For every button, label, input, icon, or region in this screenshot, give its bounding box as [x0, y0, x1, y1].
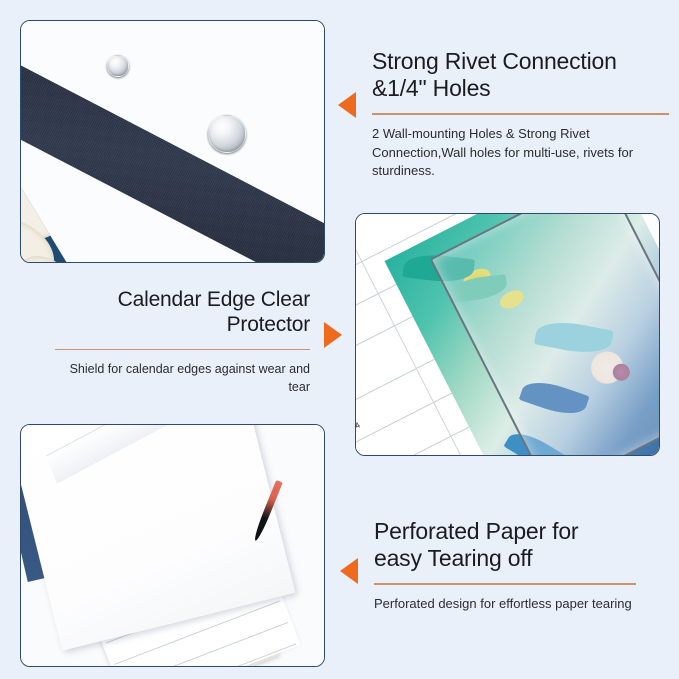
- pointer-arrow-left-icon: [340, 558, 358, 584]
- page-curl: [46, 424, 238, 484]
- heading-line-1: Strong Rivet Connection: [372, 48, 617, 74]
- feature-heading-rivet: Strong Rivet Connection &1/4" Holes: [372, 48, 669, 102]
- heading-line-1: Perforated Paper for: [374, 518, 578, 544]
- heading-line-2: easy Tearing off: [374, 545, 532, 571]
- photo-panel-rivets: [20, 20, 325, 263]
- heading-line-2: &1/4" Holes: [372, 75, 490, 101]
- pointer-arrow-left-icon: [338, 92, 356, 118]
- feature-block-perforated: Perforated Paper for easy Tearing off Pe…: [374, 518, 636, 614]
- calendar-date-marker: 31/334: [355, 420, 362, 439]
- feature-body-perforated: Perforated design for effortless paper t…: [374, 595, 636, 614]
- heading-divider: [374, 583, 636, 585]
- rivet-icon: [107, 55, 129, 77]
- pointer-arrow-right-icon: [324, 322, 342, 348]
- feature-block-rivet: Strong Rivet Connection &1/4" Holes 2 Wa…: [372, 48, 669, 181]
- rivet-icon: [208, 115, 246, 153]
- heading-line-1: Calendar Edge Clear: [118, 288, 310, 311]
- feature-block-protector: Calendar Edge Clear Protector Shield for…: [55, 288, 310, 396]
- feature-body-rivet: 2 Wall-mounting Holes & Strong Rivet Con…: [372, 125, 669, 182]
- photo-panel-perforated-notes: NOTES: [20, 424, 325, 667]
- infographic-canvas: 31/334 February 2026 S M T W T F S: [0, 0, 679, 679]
- feature-heading-perforated: Perforated Paper for easy Tearing off: [374, 518, 636, 572]
- photo-panel-edge-protector: 31/334 February 2026 S M T W T F S: [355, 213, 660, 456]
- heading-divider: [55, 349, 310, 351]
- heading-line-2: Protector: [227, 313, 310, 336]
- feature-body-protector: Shield for calendar edges against wear a…: [55, 360, 310, 396]
- feature-heading-protector: Calendar Edge Clear Protector: [55, 288, 310, 338]
- heading-divider: [372, 113, 669, 115]
